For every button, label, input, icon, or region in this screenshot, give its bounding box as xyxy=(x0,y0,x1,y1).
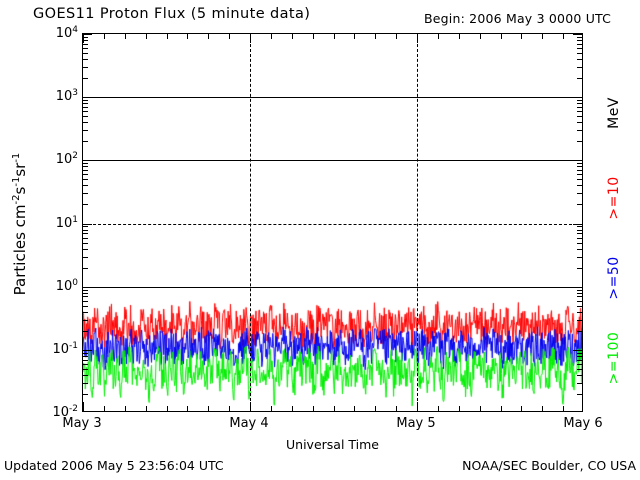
x-axis-tick xyxy=(208,34,209,39)
y-axis-tick xyxy=(83,268,88,269)
y-axis-tick xyxy=(577,107,582,108)
y-axis-tick xyxy=(83,257,88,258)
y-axis-tick xyxy=(83,226,88,227)
x-axis-tick xyxy=(542,34,543,39)
day-boundary-line xyxy=(250,34,251,411)
y-axis-tick xyxy=(577,141,582,142)
y-axis-tick xyxy=(577,353,582,354)
y-axis-tick xyxy=(577,103,582,104)
x-axis-tick xyxy=(480,406,481,411)
x-axis-tick xyxy=(125,34,126,39)
y-axis-tick xyxy=(83,383,88,384)
y-tick-label: 100 xyxy=(56,277,78,293)
x-axis-tick xyxy=(313,406,314,411)
x-axis-tick xyxy=(187,406,188,411)
y-axis-tick xyxy=(577,170,582,171)
x-axis-tick xyxy=(521,34,522,39)
y-tick-label: 101 xyxy=(56,214,78,230)
x-axis-tick xyxy=(521,406,522,411)
y-axis-tick xyxy=(577,312,582,313)
y-axis-tick xyxy=(83,160,92,161)
y-axis-tick xyxy=(577,296,582,297)
chart-title: GOES11 Proton Flux (5 minute data) xyxy=(33,6,310,22)
y-axis-tick xyxy=(577,111,582,112)
y-axis-tick xyxy=(577,226,582,227)
y-axis-tick xyxy=(83,179,88,180)
y-axis-tick-labels: 10-210-1100101102103104 xyxy=(0,33,78,412)
x-axis-tick xyxy=(396,406,397,411)
y-axis-tick xyxy=(577,233,582,234)
y-axis-tick xyxy=(573,287,582,288)
y-tick-label: 104 xyxy=(56,25,78,41)
y-axis-tick xyxy=(83,185,88,186)
day-boundary-line xyxy=(417,34,418,411)
y-axis-tick xyxy=(83,233,88,234)
legend: MeV>=10>=50>=100 xyxy=(596,95,636,415)
credit-label: NOAA/SEC Boulder, CO USA xyxy=(462,458,636,473)
x-axis-tick xyxy=(83,34,84,43)
y-axis-tick xyxy=(83,320,88,321)
begin-timestamp: Begin: 2006 May 3 0000 UTC xyxy=(424,11,611,26)
y-axis-tick xyxy=(83,166,88,167)
x-axis-tick xyxy=(375,34,376,39)
y-axis-tick xyxy=(83,356,88,357)
y-axis-tick xyxy=(577,48,582,49)
y-axis-tick xyxy=(83,97,92,98)
x-axis-tick xyxy=(354,406,355,411)
gridline-solid xyxy=(83,160,582,161)
y-axis-tick xyxy=(83,360,88,361)
x-axis-tick xyxy=(334,406,335,411)
y-axis-tick xyxy=(577,306,582,307)
y-tick-label: 10-1 xyxy=(52,341,78,357)
y-axis-tick xyxy=(577,174,582,175)
x-tick-label: May 6 xyxy=(563,416,602,431)
x-axis-tick xyxy=(501,34,502,39)
x-axis-tick xyxy=(104,406,105,411)
updated-timestamp: Updated 2006 May 5 23:56:04 UTC xyxy=(4,458,224,473)
x-axis-tick xyxy=(438,34,439,39)
x-axis-tick xyxy=(250,34,251,43)
x-axis-tick xyxy=(417,34,418,43)
x-axis-tick xyxy=(104,34,105,39)
x-axis-tick xyxy=(459,34,460,39)
y-axis-tick xyxy=(83,141,88,142)
y-axis-tick xyxy=(83,34,92,35)
y-axis-tick xyxy=(83,67,88,68)
y-axis-tick xyxy=(573,350,582,351)
x-axis-tick xyxy=(146,406,147,411)
y-axis-tick xyxy=(83,350,92,351)
y-axis-tick xyxy=(83,174,88,175)
y-axis-tick xyxy=(577,243,582,244)
x-axis-tick xyxy=(146,34,147,39)
y-axis-tick xyxy=(83,287,92,288)
y-axis-tick xyxy=(577,40,582,41)
x-axis-tick xyxy=(417,402,418,411)
y-axis-tick xyxy=(577,67,582,68)
y-axis-tick xyxy=(577,163,582,164)
x-axis-tick xyxy=(459,406,460,411)
y-axis-tick xyxy=(577,394,582,395)
y-axis-tick xyxy=(577,37,582,38)
y-axis-tick xyxy=(577,301,582,302)
y-axis-tick xyxy=(577,293,582,294)
y-axis-tick xyxy=(577,185,582,186)
y-axis-tick xyxy=(83,375,88,376)
y-axis-tick xyxy=(83,238,88,239)
y-axis-tick xyxy=(83,59,88,60)
y-axis-tick xyxy=(577,179,582,180)
x-axis-tick xyxy=(250,402,251,411)
y-axis-tick xyxy=(83,364,88,365)
y-axis-tick xyxy=(83,353,88,354)
y-axis-tick xyxy=(83,306,88,307)
x-axis-tick xyxy=(167,406,168,411)
y-axis-tick xyxy=(83,394,88,395)
y-axis-tick xyxy=(83,312,88,313)
x-axis-tick xyxy=(271,34,272,39)
x-axis-tick xyxy=(438,406,439,411)
x-axis-tick xyxy=(563,34,564,39)
gridline-dashed xyxy=(83,224,582,225)
x-tick-label: May 3 xyxy=(62,416,101,431)
x-axis-tick xyxy=(396,34,397,39)
y-axis-tick xyxy=(577,364,582,365)
x-axis-tick xyxy=(292,34,293,39)
y-axis-tick xyxy=(83,111,88,112)
y-axis-tick xyxy=(83,122,88,123)
y-axis-tick xyxy=(577,230,582,231)
y-axis-tick xyxy=(577,122,582,123)
gridline-solid xyxy=(83,287,582,288)
y-axis-tick xyxy=(577,44,582,45)
y-axis-tick xyxy=(83,293,88,294)
y-axis-tick xyxy=(83,249,88,250)
x-axis-tick xyxy=(375,406,376,411)
x-tick-label: May 4 xyxy=(229,416,268,431)
y-axis-tick xyxy=(83,290,88,291)
y-axis-tick xyxy=(83,103,88,104)
y-axis-tick xyxy=(577,238,582,239)
y-axis-tick xyxy=(83,163,88,164)
y-axis-tick xyxy=(83,44,88,45)
y-axis-tick xyxy=(83,48,88,49)
x-axis-title: Universal Time xyxy=(82,437,583,452)
y-axis-tick xyxy=(83,243,88,244)
x-axis-tick xyxy=(83,402,84,411)
y-axis-tick xyxy=(573,34,582,35)
y-axis-tick xyxy=(577,193,582,194)
y-axis-tick xyxy=(573,160,582,161)
y-axis-tick xyxy=(577,53,582,54)
y-axis-tick xyxy=(577,320,582,321)
y-axis-tick xyxy=(83,170,88,171)
y-axis-tick xyxy=(83,230,88,231)
y-axis-tick xyxy=(83,224,92,225)
y-axis-tick xyxy=(577,249,582,250)
y-axis-tick xyxy=(83,130,88,131)
y-axis-tick xyxy=(577,130,582,131)
y-axis-tick xyxy=(83,116,88,117)
y-axis-tick xyxy=(577,356,582,357)
legend-entry: >=100 xyxy=(606,298,622,418)
x-axis-tick-labels: May 3May 4May 5May 6 xyxy=(82,416,583,434)
y-axis-tick xyxy=(577,257,582,258)
x-axis-tick xyxy=(271,406,272,411)
x-axis-tick xyxy=(208,406,209,411)
y-tick-label: 103 xyxy=(56,88,78,104)
y-axis-tick xyxy=(577,166,582,167)
x-axis-tick xyxy=(313,34,314,39)
y-axis-tick xyxy=(83,369,88,370)
x-axis-tick xyxy=(542,406,543,411)
y-axis-tick xyxy=(83,193,88,194)
plot-area xyxy=(82,33,583,412)
x-axis-tick xyxy=(187,34,188,39)
y-axis-tick xyxy=(577,59,582,60)
x-axis-tick xyxy=(229,406,230,411)
y-axis-tick xyxy=(83,301,88,302)
y-axis-tick xyxy=(577,204,582,205)
y-tick-label: 102 xyxy=(56,151,78,167)
gridline-solid xyxy=(83,97,582,98)
y-axis-tick xyxy=(577,268,582,269)
x-axis-tick xyxy=(563,406,564,411)
x-axis-tick xyxy=(125,406,126,411)
y-axis-tick xyxy=(577,331,582,332)
y-axis-tick xyxy=(83,100,88,101)
y-axis-tick xyxy=(83,78,88,79)
x-axis-tick xyxy=(354,34,355,39)
y-axis-tick xyxy=(573,97,582,98)
y-axis-tick xyxy=(83,107,88,108)
x-axis-tick xyxy=(334,34,335,39)
x-axis-tick xyxy=(480,34,481,39)
x-tick-label: May 5 xyxy=(396,416,435,431)
x-axis-tick xyxy=(229,34,230,39)
x-axis-tick xyxy=(292,406,293,411)
y-axis-tick xyxy=(83,296,88,297)
y-axis-tick xyxy=(83,53,88,54)
y-axis-tick xyxy=(83,204,88,205)
y-axis-tick xyxy=(577,78,582,79)
y-axis-tick xyxy=(577,369,582,370)
x-axis-tick xyxy=(501,406,502,411)
x-axis-tick xyxy=(167,34,168,39)
y-axis-tick xyxy=(577,375,582,376)
y-axis-tick xyxy=(83,331,88,332)
y-axis-tick xyxy=(577,116,582,117)
y-axis-tick xyxy=(577,290,582,291)
y-axis-tick xyxy=(577,100,582,101)
y-axis-tick xyxy=(577,383,582,384)
y-axis-tick xyxy=(577,360,582,361)
y-axis-tick xyxy=(573,224,582,225)
